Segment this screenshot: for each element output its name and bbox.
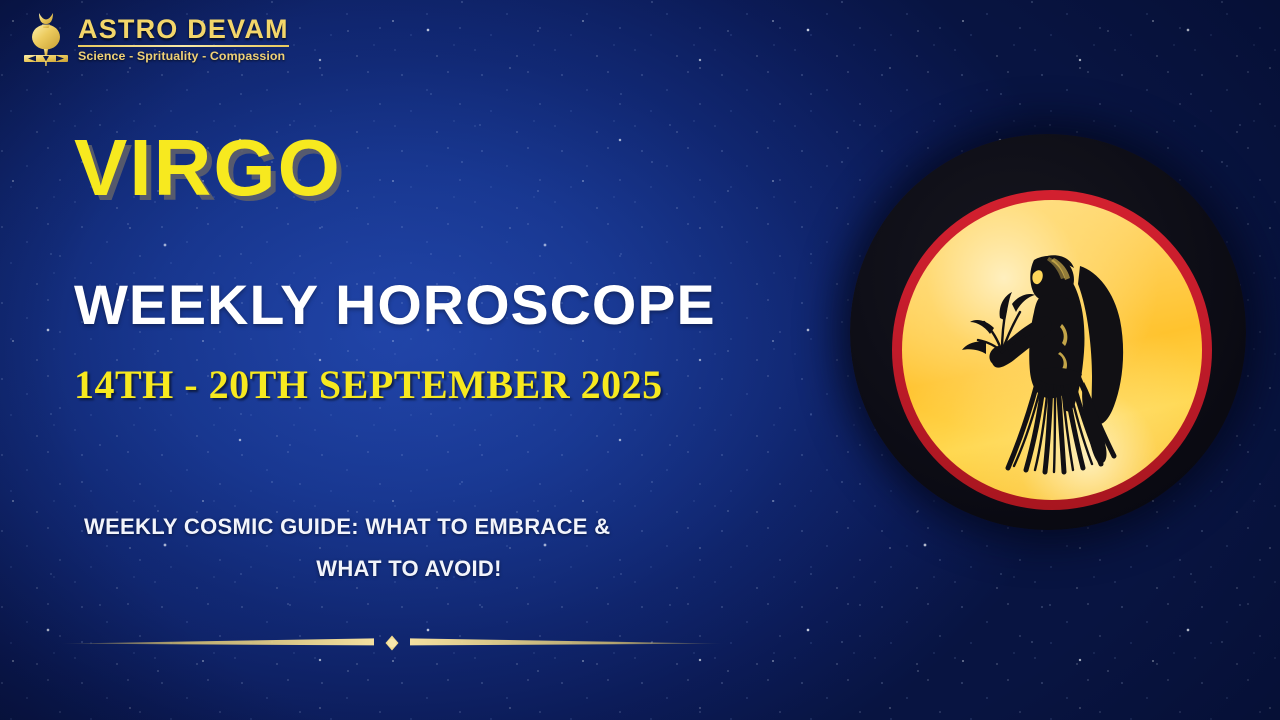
horoscope-banner: ASTRO DEVAM Science - Sprituality - Comp…: [0, 0, 1280, 720]
brand-divider-rule: [78, 45, 289, 47]
ornamental-divider: [62, 628, 722, 658]
emblem-gold-disc: [902, 200, 1202, 500]
kalash-crescent-icon: [22, 8, 70, 70]
virgo-emblem: [840, 128, 1260, 548]
page-title: WEEKLY HOROSCOPE: [74, 276, 716, 334]
subtitle: WEEKLY COSMIC GUIDE: WHAT TO EMBRACE & W…: [84, 506, 734, 590]
brand-name: ASTRO DEVAM: [78, 15, 289, 43]
brand-tagline: Science - Sprituality - Compassion: [78, 49, 289, 63]
brand-logo[interactable]: ASTRO DEVAM Science - Sprituality - Comp…: [22, 8, 289, 70]
subtitle-line-2: WHAT TO AVOID!: [84, 548, 734, 590]
virgo-maiden-icon: [902, 200, 1202, 500]
subtitle-line-1: WEEKLY COSMIC GUIDE: WHAT TO EMBRACE &: [84, 506, 734, 548]
date-range: 14TH - 20TH SEPTEMBER 2025: [74, 363, 663, 407]
brand-logo-text: ASTRO DEVAM Science - Sprituality - Comp…: [78, 15, 289, 63]
zodiac-sign-title: VIRGO: [74, 128, 342, 208]
